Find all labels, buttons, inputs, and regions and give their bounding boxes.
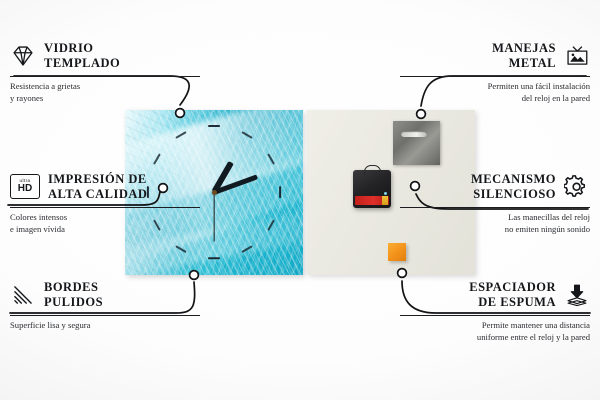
feature-title-line2: SILENCIOSO <box>471 187 556 202</box>
foam-spacer <box>388 243 406 261</box>
metal-hanger-plate <box>393 121 440 165</box>
polished-edges-icon <box>10 283 36 307</box>
feature-header: BORDES PULIDOS <box>10 280 200 310</box>
divider <box>400 76 590 77</box>
feature-manejas-metal: MANEJAS METAL Permiten una fácil instala… <box>400 41 590 105</box>
feature-title-line2: PULIDOS <box>44 295 103 310</box>
feature-description: Permite mantener una distancia uniforme … <box>400 320 590 344</box>
feature-title: IMPRESIÓN DE ALTA CALIDAD <box>48 172 147 202</box>
feature-description: Superficie lisa y segura <box>10 320 200 332</box>
divider <box>400 207 590 208</box>
feature-title-line1: VIDRIO <box>44 41 120 56</box>
feature-title-line1: IMPRESIÓN DE <box>48 172 147 187</box>
feature-desc-line1: Colores intensos <box>10 212 200 224</box>
feature-desc-line2: y rayones <box>10 93 200 105</box>
feature-title: BORDES PULIDOS <box>44 280 103 310</box>
feature-desc-line2: del reloj en la pared <box>400 93 590 105</box>
feature-desc-line1: Las manecillas del reloj <box>400 212 590 224</box>
divider <box>10 207 200 208</box>
battery-compartment <box>355 196 389 205</box>
infographic-canvas: VIDRIO TEMPLADO Resistencia a grietas y … <box>0 0 600 400</box>
divider <box>10 315 200 316</box>
diamond-icon <box>10 44 36 68</box>
feature-header: ESPACIADOR DE ESPUMA <box>400 280 590 310</box>
feature-title-line1: ESPACIADOR <box>469 280 556 295</box>
feature-description: Permiten una fácil instalación del reloj… <box>400 81 590 105</box>
ultra-hd-badge-icon: ultra HD <box>10 174 40 199</box>
hands-center-cap <box>212 190 217 195</box>
feature-title-line2: METAL <box>492 56 556 71</box>
feature-title-line2: ALTA CALIDAD <box>48 187 147 202</box>
hanger-slot <box>401 131 427 137</box>
feature-desc-line2: e imagen vívida <box>10 224 200 236</box>
feature-header: MECANISMO SILENCIOSO <box>400 172 590 202</box>
feature-title-line1: MECANISMO <box>471 172 556 187</box>
feature-mecanismo-silencioso: MECANISMO SILENCIOSO Las manecillas del … <box>400 172 590 236</box>
feature-title: MECANISMO SILENCIOSO <box>471 172 556 202</box>
quartz-mechanism-box <box>353 170 391 208</box>
hanger-loop <box>364 165 381 175</box>
gear-icon <box>564 175 590 199</box>
picture-frame-hanger-icon <box>564 44 590 68</box>
feature-description: Colores intensos e imagen vívida <box>10 212 200 236</box>
feature-title: MANEJAS METAL <box>492 41 556 71</box>
feature-title: VIDRIO TEMPLADO <box>44 41 120 71</box>
feature-desc-line1: Permiten una fácil instalación <box>400 81 590 93</box>
feature-header: MANEJAS METAL <box>400 41 590 71</box>
feature-title-line1: BORDES <box>44 280 103 295</box>
feature-espaciador-espuma: ESPACIADOR DE ESPUMA Permite mantener un… <box>400 280 590 344</box>
feature-desc-line2: no emiten ningún sonido <box>400 224 590 236</box>
badge-text-hd: HD <box>18 184 32 194</box>
feature-vidrio-templado: VIDRIO TEMPLADO Resistencia a grietas y … <box>10 41 200 105</box>
feature-header: VIDRIO TEMPLADO <box>10 41 200 71</box>
feature-bordes-pulidos: BORDES PULIDOS Superficie lisa y segura <box>10 280 200 332</box>
feature-description: Las manecillas del reloj no emiten ningú… <box>400 212 590 236</box>
foam-spacer-arrow-icon <box>564 283 590 307</box>
hour-marker <box>279 186 281 198</box>
hour-marker <box>208 257 220 259</box>
feature-title-line2: DE ESPUMA <box>469 295 556 310</box>
feature-header: ultra HD IMPRESIÓN DE ALTA CALIDAD <box>10 172 200 202</box>
feature-desc-line1: Superficie lisa y segura <box>10 320 200 332</box>
hour-marker <box>208 125 220 127</box>
feature-desc-line1: Permite mantener una distancia <box>400 320 590 332</box>
divider <box>10 76 200 77</box>
feature-title-line2: TEMPLADO <box>44 56 120 71</box>
mechanism-indicator <box>384 192 387 195</box>
feature-title: ESPACIADOR DE ESPUMA <box>469 280 556 310</box>
feature-desc-line1: Resistencia a grietas <box>10 81 200 93</box>
feature-impresion-alta-calidad: ultra HD IMPRESIÓN DE ALTA CALIDAD Color… <box>10 172 200 236</box>
divider <box>400 315 590 316</box>
second-hand <box>213 192 214 242</box>
feature-description: Resistencia a grietas y rayones <box>10 81 200 105</box>
feature-title-line1: MANEJAS <box>492 41 556 56</box>
feature-desc-line2: uniforme entre el reloj y la pared <box>400 332 590 344</box>
